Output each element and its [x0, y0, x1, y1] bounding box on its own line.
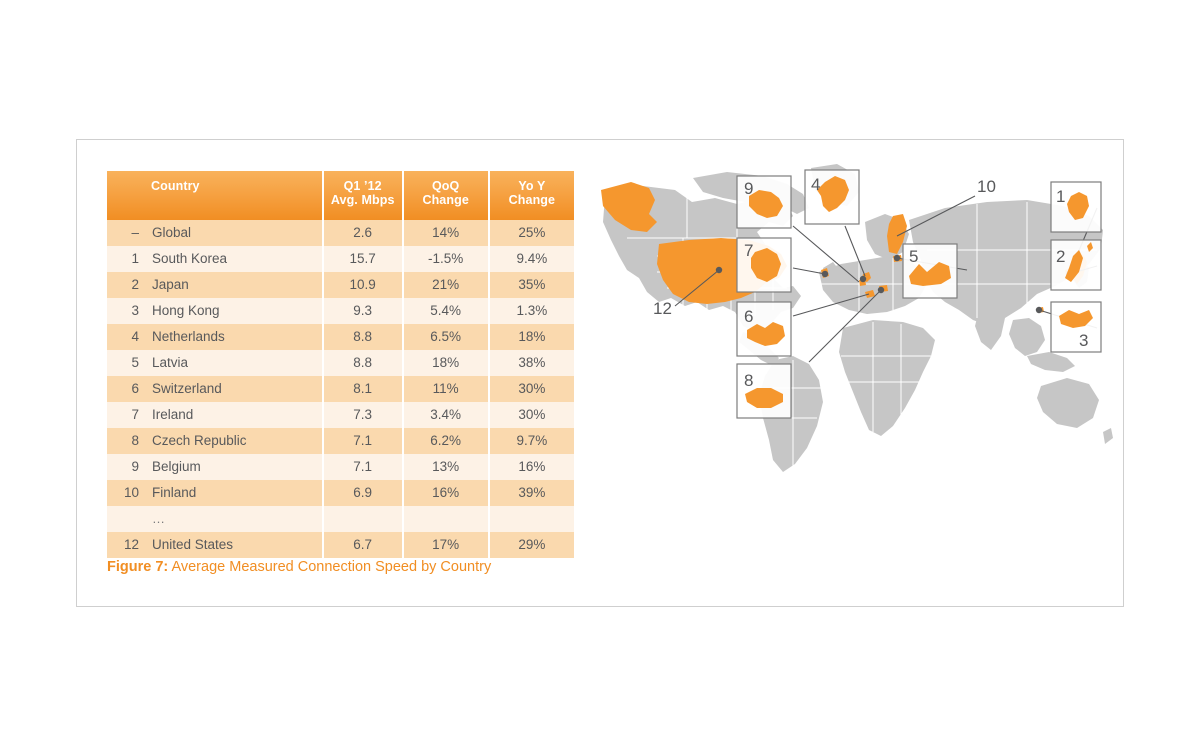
cell-country-name: Netherlands: [152, 329, 225, 344]
land-southeast-asia: [1009, 318, 1045, 356]
cell-country: 8Czech Republic: [107, 428, 324, 454]
cell-avg-mbps: 9.3: [324, 298, 404, 324]
cell-qoq-change: 14%: [404, 220, 490, 246]
cell-country: 6Switzerland: [107, 376, 324, 402]
cell-avg-mbps: 8.1: [324, 376, 404, 402]
table-row: 8Czech Republic7.16.2%9.7%: [107, 428, 574, 454]
cell-country-name: Hong Kong: [152, 303, 220, 318]
cell-country: 7Ireland: [107, 402, 324, 428]
dot-ireland: [822, 271, 828, 277]
cell-yoy-change: 39%: [490, 480, 574, 506]
cell-yoy-change: 16%: [490, 454, 574, 480]
cell-avg-mbps: 2.6: [324, 220, 404, 246]
cell-rank: 12: [107, 537, 152, 552]
cell-yoy-change: 35%: [490, 272, 574, 298]
cell-avg-mbps: 7.3: [324, 402, 404, 428]
cell-country-name: United States: [152, 537, 233, 552]
cell-country: 1South Korea: [107, 246, 324, 272]
table-row: 10Finland6.916%39%: [107, 480, 574, 506]
land-indonesia: [1027, 352, 1075, 372]
map-label-12: 12: [653, 299, 672, 318]
land-india: [975, 308, 1005, 350]
table-header-row: Country Q1 ’12 Avg. Mbps QoQ Change Yo Y…: [107, 171, 574, 220]
table-row: 3Hong Kong9.35.4%1.3%: [107, 298, 574, 324]
callout-8-number: 8: [744, 371, 753, 390]
callout-2-number: 2: [1056, 247, 1065, 266]
cell-avg-mbps: 7.1: [324, 454, 404, 480]
cell-country: –Global: [107, 220, 324, 246]
cell-qoq-change: -1.5%: [404, 246, 490, 272]
callout-6-number: 6: [744, 307, 753, 326]
cell-rank: 1: [107, 251, 152, 266]
cell-rank: 2: [107, 277, 152, 292]
cell-avg-mbps: 7.1: [324, 428, 404, 454]
cell-country: 2Japan: [107, 272, 324, 298]
cell-rank: –: [107, 225, 152, 240]
column-header-avg-mbps: Q1 ’12 Avg. Mbps: [324, 171, 404, 220]
column-header-avg-mbps-line1: Q1 ’12: [344, 179, 382, 193]
map-label-10: 10: [977, 177, 996, 196]
figure-caption: Figure 7: Average Measured Connection Sp…: [107, 559, 491, 575]
cell-rank: 4: [107, 329, 152, 344]
cell-country-name: Czech Republic: [152, 433, 247, 448]
cell-rank: 5: [107, 355, 152, 370]
cell-avg-mbps: 8.8: [324, 350, 404, 376]
cell-yoy-change: 38%: [490, 350, 574, 376]
cell-avg-mbps: 6.9: [324, 480, 404, 506]
cell-yoy-change: 9.4%: [490, 246, 574, 272]
cell-country-name: Belgium: [152, 459, 201, 474]
callout-7[interactable]: 7: [737, 238, 791, 292]
dot-hong-kong: [1036, 307, 1042, 313]
dot-united-states: [716, 267, 722, 273]
callout-5-number: 5: [909, 247, 918, 266]
world-map: 9 4 7 6: [597, 160, 1117, 490]
figure-caption-text: Average Measured Connection Speed by Cou…: [168, 559, 491, 575]
cell-yoy-change: 1.3%: [490, 298, 574, 324]
cell-country: 3Hong Kong: [107, 298, 324, 324]
column-header-yoy-line1: Yo Y: [518, 179, 545, 193]
cell-qoq-change: 11%: [404, 376, 490, 402]
dot-latvia: [894, 255, 900, 261]
table-row: –Global2.614%25%: [107, 220, 574, 246]
cell-qoq-change: 5.4%: [404, 298, 490, 324]
cell-yoy-change: 9.7%: [490, 428, 574, 454]
cell-rank: 3: [107, 303, 152, 318]
cell-rank: 9: [107, 459, 152, 474]
cell-qoq-change: [404, 506, 490, 532]
column-header-qoq-line2: Change: [422, 193, 468, 207]
land-new-zealand: [1103, 428, 1113, 444]
cell-qoq-change: 6.5%: [404, 324, 490, 350]
cell-qoq-change: 16%: [404, 480, 490, 506]
cell-qoq-change: 6.2%: [404, 428, 490, 454]
connection-speed-table: Country Q1 ’12 Avg. Mbps QoQ Change Yo Y…: [107, 171, 574, 558]
cell-avg-mbps: [324, 506, 404, 532]
cell-yoy-change: 25%: [490, 220, 574, 246]
column-header-avg-mbps-line2: Avg. Mbps: [331, 193, 395, 207]
callout-3-number: 3: [1079, 331, 1088, 350]
cell-yoy-change: 18%: [490, 324, 574, 350]
callout-7-number: 7: [744, 241, 753, 260]
callout-4-number: 4: [811, 175, 820, 194]
cell-yoy-change: [490, 506, 574, 532]
cell-rank: 6: [107, 381, 152, 396]
callout-4[interactable]: 4: [805, 170, 859, 224]
cell-avg-mbps: 8.8: [324, 324, 404, 350]
cell-country: …: [107, 506, 324, 532]
column-header-country: Country: [107, 171, 324, 220]
cell-country-name: Ireland: [152, 407, 193, 422]
table-row: 4Netherlands8.86.5%18%: [107, 324, 574, 350]
cell-country: 4Netherlands: [107, 324, 324, 350]
callout-9-number: 9: [744, 179, 753, 198]
callout-3[interactable]: 3: [1051, 302, 1101, 352]
land-africa: [839, 320, 935, 436]
column-header-qoq-change: QoQ Change: [404, 171, 490, 220]
table-row: 6Switzerland8.111%30%: [107, 376, 574, 402]
cell-country-name: Global: [152, 225, 191, 240]
table-row: 12United States6.717%29%: [107, 532, 574, 558]
land-australia: [1037, 378, 1099, 428]
cell-country-name: Finland: [152, 485, 196, 500]
cell-qoq-change: 13%: [404, 454, 490, 480]
cell-qoq-change: 18%: [404, 350, 490, 376]
cell-qoq-change: 21%: [404, 272, 490, 298]
cell-yoy-change: 30%: [490, 376, 574, 402]
table-header: Country Q1 ’12 Avg. Mbps QoQ Change Yo Y…: [107, 171, 574, 220]
cell-country-name: Japan: [152, 277, 189, 292]
callout-5[interactable]: 5: [903, 244, 957, 298]
table-row: 5Latvia8.818%38%: [107, 350, 574, 376]
table-row: 9Belgium7.113%16%: [107, 454, 574, 480]
column-header-yoy-line2: Change: [509, 193, 555, 207]
column-header-qoq-line1: QoQ: [432, 179, 459, 193]
callout-9[interactable]: 9: [737, 176, 791, 228]
figure-panel: Country Q1 ’12 Avg. Mbps QoQ Change Yo Y…: [76, 139, 1124, 607]
leader-line-7: [793, 268, 825, 274]
callout-1[interactable]: 1: [1051, 182, 1101, 232]
cell-country-name: Latvia: [152, 355, 188, 370]
cell-country-name: Switzerland: [152, 381, 222, 396]
callout-1-number: 1: [1056, 187, 1065, 206]
dot-benelux: [860, 276, 866, 282]
cell-avg-mbps: 15.7: [324, 246, 404, 272]
cell-yoy-change: 29%: [490, 532, 574, 558]
cell-qoq-change: 17%: [404, 532, 490, 558]
column-header-yoy-change: Yo Y Change: [490, 171, 574, 220]
cell-rank: 8: [107, 433, 152, 448]
table-row: …: [107, 506, 574, 532]
callout-8[interactable]: 8: [737, 364, 791, 418]
cell-country-name: South Korea: [152, 251, 227, 266]
table-row: 7Ireland7.33.4%30%: [107, 402, 574, 428]
cell-country: 10Finland: [107, 480, 324, 506]
table-row: 1South Korea15.7-1.5%9.4%: [107, 246, 574, 272]
cell-rank: 10: [107, 485, 152, 500]
figure-caption-label: Figure 7:: [107, 559, 168, 575]
cell-avg-mbps: 6.7: [324, 532, 404, 558]
cell-country: 5Latvia: [107, 350, 324, 376]
callout-2[interactable]: 2: [1051, 240, 1101, 290]
cell-avg-mbps: 10.9: [324, 272, 404, 298]
cell-country-name: …: [152, 511, 167, 526]
cell-country: 12United States: [107, 532, 324, 558]
table-row: 2Japan10.921%35%: [107, 272, 574, 298]
cell-rank: 7: [107, 407, 152, 422]
table-body: –Global2.614%25%1South Korea15.7-1.5%9.4…: [107, 220, 574, 558]
cell-yoy-change: 30%: [490, 402, 574, 428]
dot-central-europe: [878, 287, 884, 293]
callout-6[interactable]: 6: [737, 302, 791, 356]
cell-qoq-change: 3.4%: [404, 402, 490, 428]
cell-country: 9Belgium: [107, 454, 324, 480]
